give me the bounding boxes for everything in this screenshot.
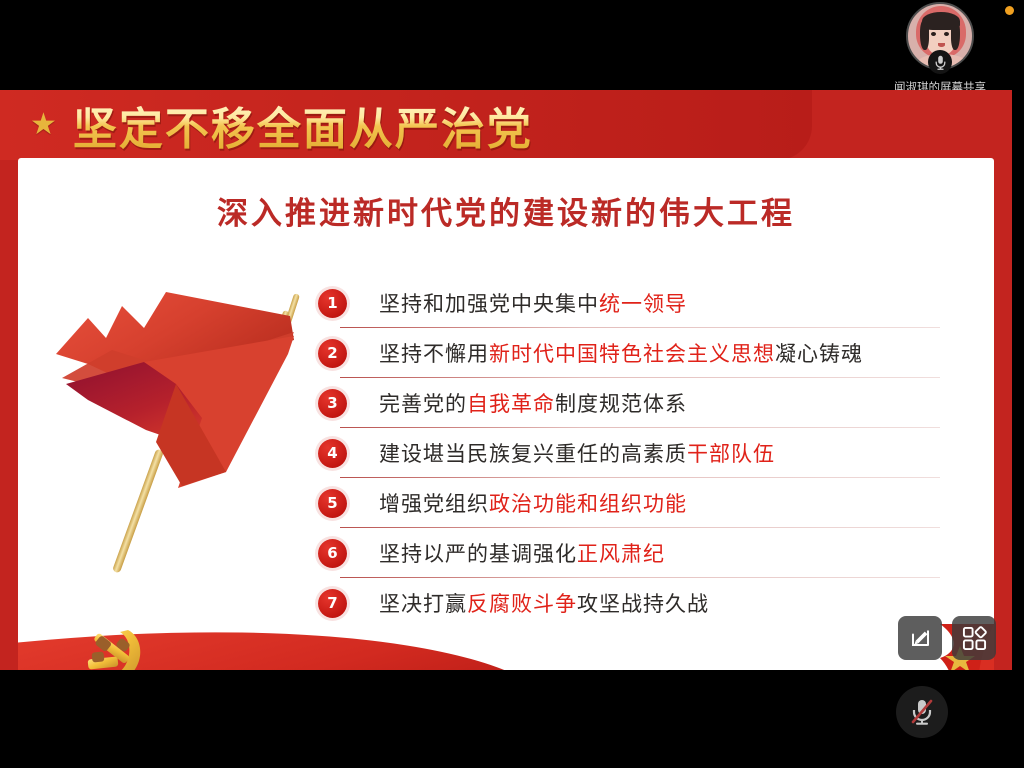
- grid-icon: [962, 626, 987, 651]
- list-item-text-highlight: 政治功能和组织功能: [489, 492, 687, 516]
- shared-slide: ★ 坚定不移全面从严治党 深入推进新时代党的建设新的伟大工程: [0, 90, 1012, 670]
- slide-card: 深入推进新时代党的建设新的伟大工程: [18, 158, 994, 670]
- list-item-text-pre: 建设堪当民族复兴重任的高素质: [379, 442, 687, 466]
- list-item-text-pre: 增强党组织: [379, 492, 489, 516]
- list-item: 7坚决打赢反腐败斗争攻坚战持久战: [318, 578, 938, 628]
- list-item: 1坚持和加强党中央集中统一领导: [318, 278, 938, 328]
- flag-svg: [26, 258, 316, 588]
- list-item-number: 1: [318, 289, 347, 318]
- meeting-topbar: 闻淑琪的屏幕共享: [0, 0, 1024, 90]
- list-item: 3完善党的自我革命制度规范体系: [318, 378, 938, 428]
- list-item: 2坚持不懈用新时代中国特色社会主义思想凝心铸魂: [318, 328, 938, 378]
- list-item-text: 增强党组织政治功能和组织功能: [379, 488, 687, 518]
- avatar-eye-right: [944, 32, 949, 36]
- recording-indicator-dot: [1005, 6, 1014, 15]
- avatar-eye-left: [931, 32, 936, 36]
- list-item-text-highlight: 新时代中国特色社会主义思想: [489, 342, 775, 366]
- pen-square-icon: [908, 626, 932, 650]
- list-item-text-highlight: 自我革命: [467, 392, 555, 416]
- list-item-text-highlight: 干部队伍: [687, 442, 775, 466]
- list-item: 5增强党组织政治功能和组织功能: [318, 478, 938, 528]
- microphone-muted-icon: [909, 697, 935, 727]
- list-item-text-pre: 坚决打赢: [379, 592, 467, 616]
- slide-banner-title: 坚定不移全面从严治党: [73, 93, 533, 157]
- avatar-mouth: [938, 43, 945, 47]
- slide-banner: ★ 坚定不移全面从严治党: [0, 90, 812, 160]
- list-item-number: 5: [318, 489, 347, 518]
- list-item-text-post: 制度规范体系: [555, 392, 687, 416]
- avatar-mic-badge: [928, 50, 952, 74]
- avatar-hair-right: [951, 20, 960, 50]
- list-item-text-pre: 坚持以严的基调强化: [379, 542, 577, 566]
- presenter-tile[interactable]: 闻淑琪的屏幕共享: [878, 2, 1002, 95]
- list-item-text-post: 攻坚战持久战: [577, 592, 709, 616]
- list-item: 4建设堪当民族复兴重任的高素质干部队伍: [318, 428, 938, 478]
- screen-root: 闻淑琪的屏幕共享 ★ 坚定不移全面从严治党 深入推进新时代党的建设新的伟大工程: [0, 0, 1024, 768]
- list-item-number: 6: [318, 539, 347, 568]
- list-item-number: 3: [318, 389, 347, 418]
- slide-point-list: 1坚持和加强党中央集中统一领导2坚持不懈用新时代中国特色社会主义思想凝心铸魂3完…: [318, 278, 938, 628]
- list-item-number: 2: [318, 339, 347, 368]
- apps-grid-button[interactable]: [952, 616, 996, 660]
- list-item-number: 7: [318, 589, 347, 618]
- hammer-sickle-icon: [74, 622, 152, 670]
- list-item-text: 坚持以严的基调强化正风肃纪: [379, 538, 665, 568]
- list-item-text: 坚持和加强党中央集中统一领导: [379, 288, 687, 318]
- list-item-text-post: 凝心铸魂: [775, 342, 863, 366]
- list-item-text-pre: 坚持不懈用: [379, 342, 489, 366]
- list-item-text: 建设堪当民族复兴重任的高素质干部队伍: [379, 438, 775, 468]
- list-item-number: 4: [318, 439, 347, 468]
- avatar-hair-left: [920, 20, 929, 50]
- list-item: 6坚持以严的基调强化正风肃纪: [318, 528, 938, 578]
- list-item-text-pre: 完善党的: [379, 392, 467, 416]
- list-item-text: 坚决打赢反腐败斗争攻坚战持久战: [379, 588, 709, 618]
- list-item-text-highlight: 反腐败斗争: [467, 592, 577, 616]
- list-item-text: 完善党的自我革命制度规范体系: [379, 388, 687, 418]
- red-flag-illustration: [26, 258, 316, 588]
- mute-microphone-button[interactable]: [896, 686, 948, 738]
- list-item-text: 坚持不懈用新时代中国特色社会主义思想凝心铸魂: [379, 338, 863, 368]
- microphone-icon: [935, 55, 946, 70]
- list-item-text-pre: 坚持和加强党中央集中: [379, 292, 599, 316]
- list-item-text-highlight: 正风肃纪: [577, 542, 665, 566]
- annotate-button[interactable]: [898, 616, 942, 660]
- hammer-sickle-emblem: [74, 622, 152, 670]
- slide-toolbar: [898, 616, 996, 660]
- list-item-text-highlight: 统一领导: [599, 292, 687, 316]
- star-icon: ★: [30, 110, 57, 140]
- avatar-wrapper: [906, 2, 974, 70]
- slide-subtitle: 深入推进新时代党的建设新的伟大工程: [18, 188, 994, 233]
